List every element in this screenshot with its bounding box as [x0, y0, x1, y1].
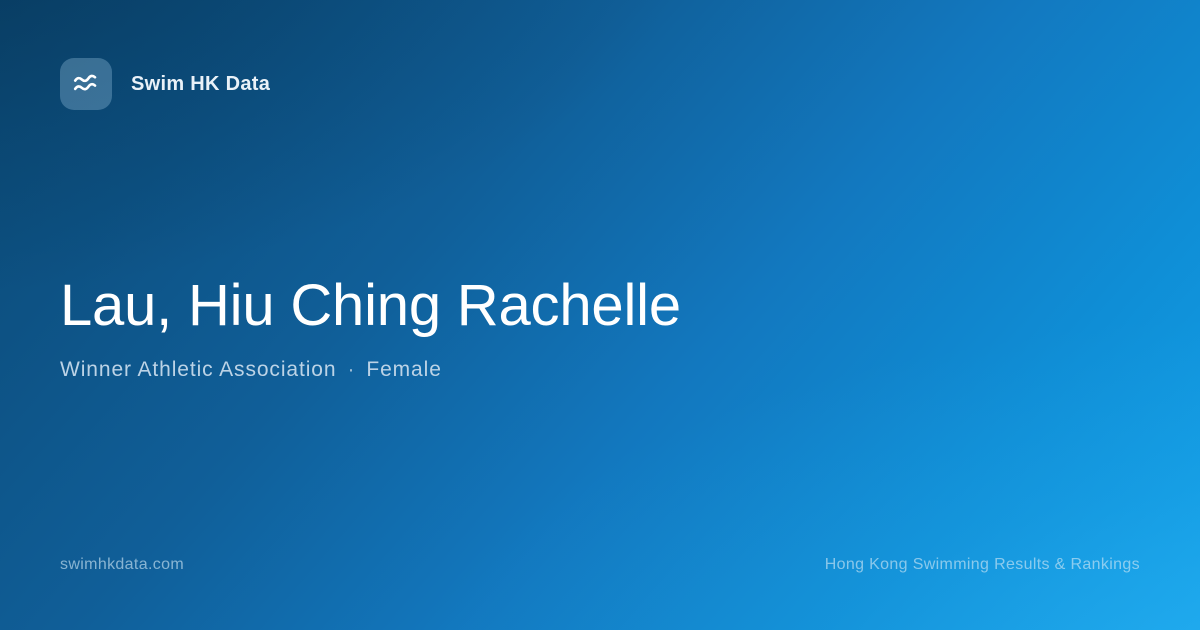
wave-icon	[72, 72, 100, 96]
footer-tagline: Hong Kong Swimming Results & Rankings	[825, 556, 1140, 574]
brand-logo-tile	[60, 58, 112, 110]
athlete-name: Lau, Hiu Ching Rachelle	[60, 272, 1140, 339]
brand-name: Swim HK Data	[131, 73, 270, 96]
footer-site-url[interactable]: swimhkdata.com	[60, 556, 184, 574]
athlete-share-card: Swim HK Data Lau, Hiu Ching Rachelle Win…	[0, 0, 1200, 630]
card-footer: swimhkdata.com Hong Kong Swimming Result…	[60, 556, 1140, 574]
meta-separator: ·	[347, 356, 355, 383]
athlete-meta: Winner Athletic Association · Female	[60, 356, 1140, 383]
brand-header[interactable]: Swim HK Data	[60, 58, 270, 110]
athlete-gender: Female	[366, 356, 441, 383]
athlete-club: Winner Athletic Association	[60, 356, 336, 383]
athlete-summary: Lau, Hiu Ching Rachelle Winner Athletic …	[60, 272, 1140, 384]
